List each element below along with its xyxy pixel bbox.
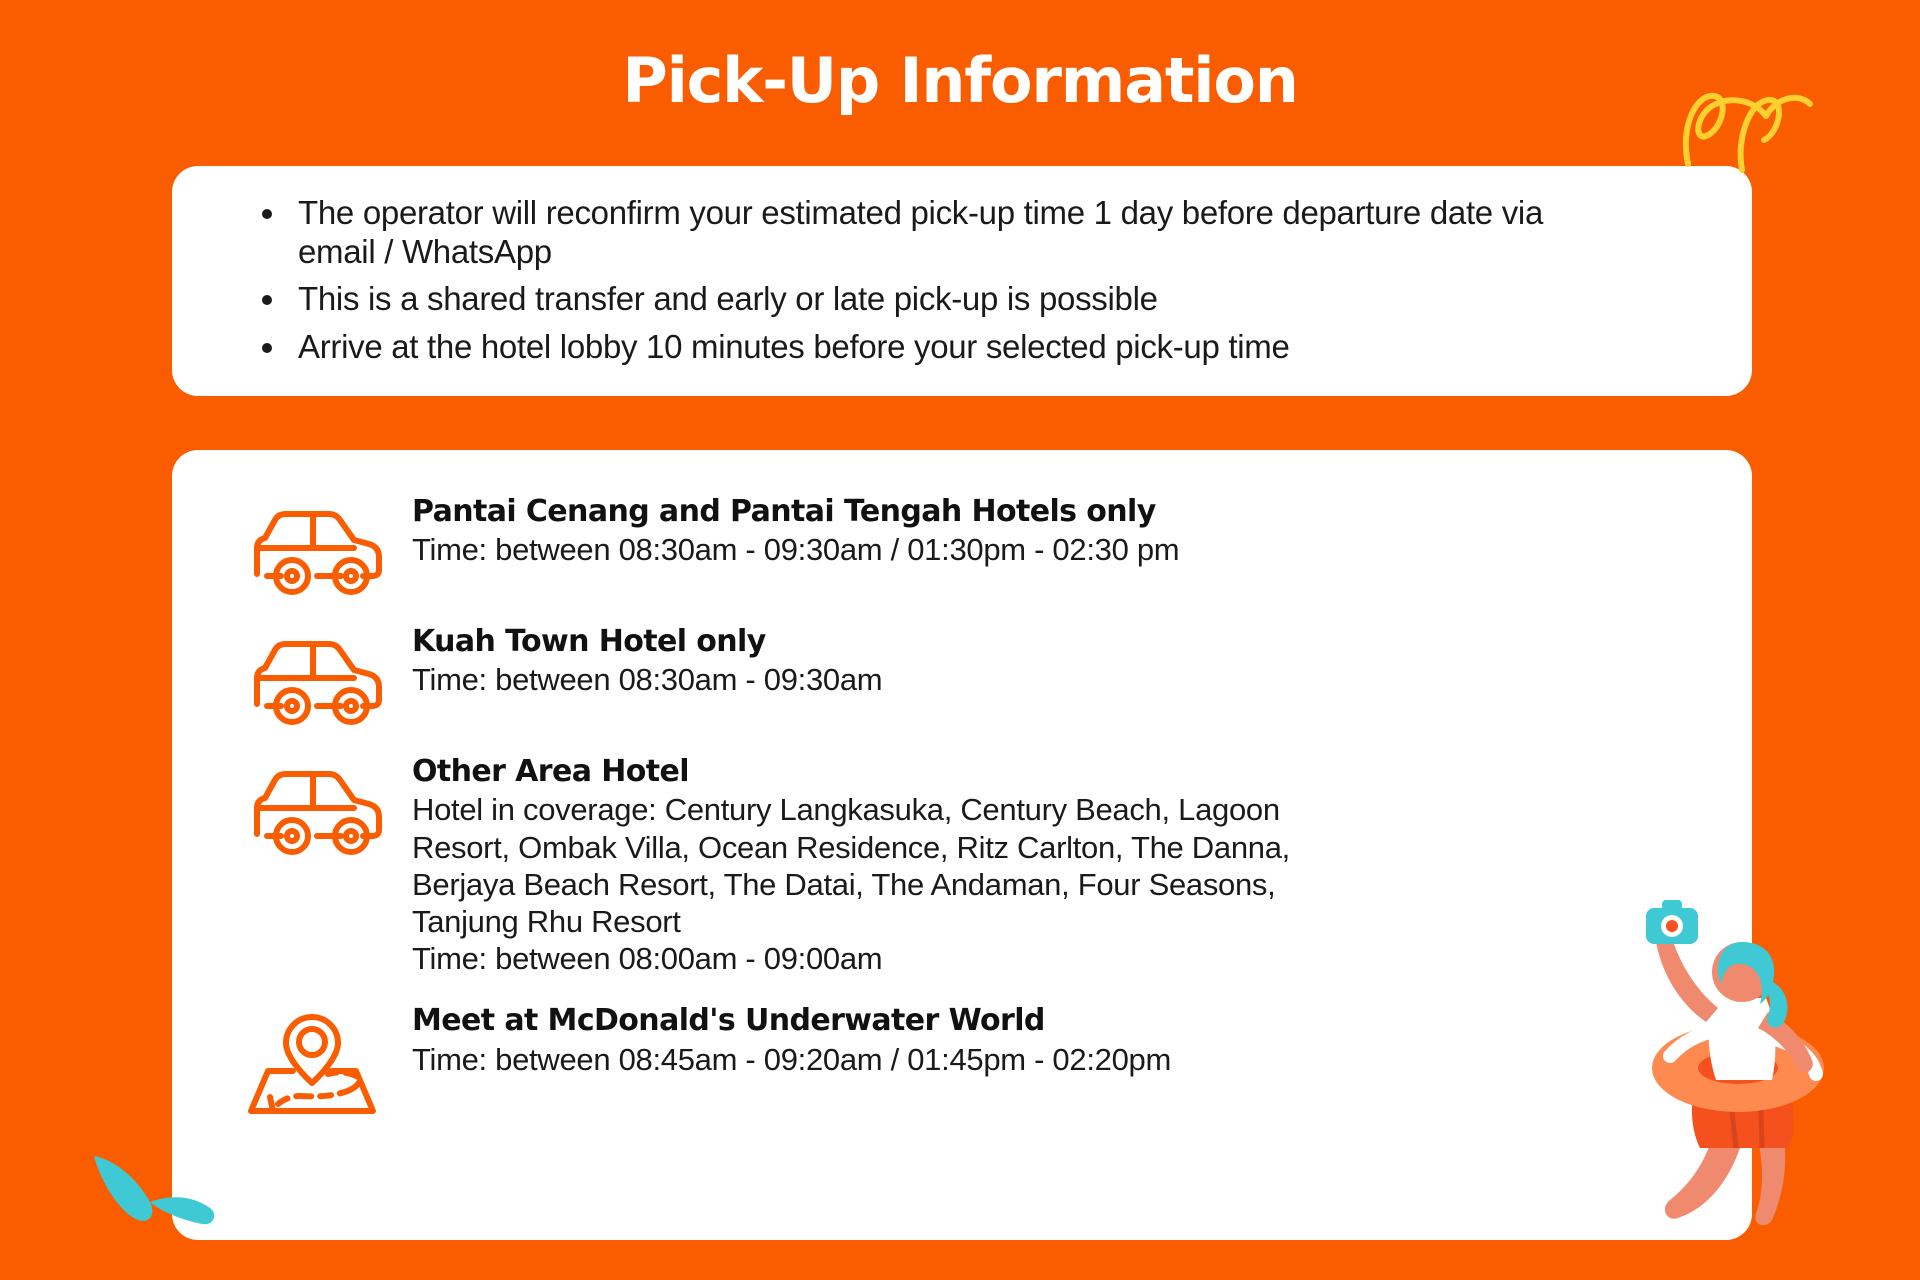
list-item: The operator will reconfirm your estimat… — [298, 194, 1598, 271]
suv-car-icon — [212, 754, 412, 860]
pickup-text-block: Pantai Cenang and Pantai Tengah Hotels o… — [412, 494, 1712, 569]
map-pin-location-icon — [212, 1003, 412, 1119]
list-item: This is a shared transfer and early or l… — [298, 280, 1598, 319]
bullet-dot-icon — [262, 209, 272, 219]
pickup-title: Meet at McDonald's Underwater World — [412, 1003, 1682, 1038]
pickup-locations-card: Pantai Cenang and Pantai Tengah Hotels o… — [172, 450, 1752, 1240]
pickup-time: Time: between 08:00am - 09:00am — [412, 940, 1372, 977]
suv-car-icon — [212, 494, 412, 600]
pickup-row-other-area: Other Area Hotel Hotel in coverage: Cent… — [212, 754, 1712, 977]
pickup-title: Kuah Town Hotel only — [412, 624, 1682, 659]
pickup-time: Time: between 08:45am - 09:20am / 01:45p… — [412, 1041, 1682, 1078]
pickup-row-pantai: Pantai Cenang and Pantai Tengah Hotels o… — [212, 494, 1712, 600]
bullet-dot-icon — [262, 343, 272, 353]
list-item: Arrive at the hotel lobby 10 minutes bef… — [298, 328, 1598, 367]
pickup-time: Time: between 08:30am - 09:30am — [412, 661, 1682, 698]
pickup-title: Other Area Hotel — [412, 754, 1682, 789]
pickup-text-block: Meet at McDonald's Underwater World Time… — [412, 1003, 1712, 1078]
pickup-row-meeting-point: Meet at McDonald's Underwater World Time… — [212, 1003, 1712, 1119]
bullet-text: The operator will reconfirm your estimat… — [298, 194, 1543, 270]
page-title: Pick-Up Information — [0, 48, 1920, 113]
bullet-text: Arrive at the hotel lobby 10 minutes bef… — [298, 328, 1290, 365]
bullet-dot-icon — [262, 295, 272, 305]
pickup-time: Time: between 08:30am - 09:30am / 01:30p… — [412, 531, 1682, 568]
notes-card: The operator will reconfirm your estimat… — [172, 166, 1752, 396]
pickup-title: Pantai Cenang and Pantai Tengah Hotels o… — [412, 494, 1682, 529]
pickup-text-block: Kuah Town Hotel only Time: between 08:30… — [412, 624, 1712, 699]
bullet-text: This is a shared transfer and early or l… — [298, 280, 1158, 317]
pickup-coverage: Hotel in coverage: Century Langkasuka, C… — [412, 791, 1372, 940]
notes-bullet-list: The operator will reconfirm your estimat… — [298, 194, 1706, 366]
suv-car-icon — [212, 624, 412, 730]
pickup-text-block: Other Area Hotel Hotel in coverage: Cent… — [412, 754, 1712, 977]
pickup-row-kuah: Kuah Town Hotel only Time: between 08:30… — [212, 624, 1712, 730]
